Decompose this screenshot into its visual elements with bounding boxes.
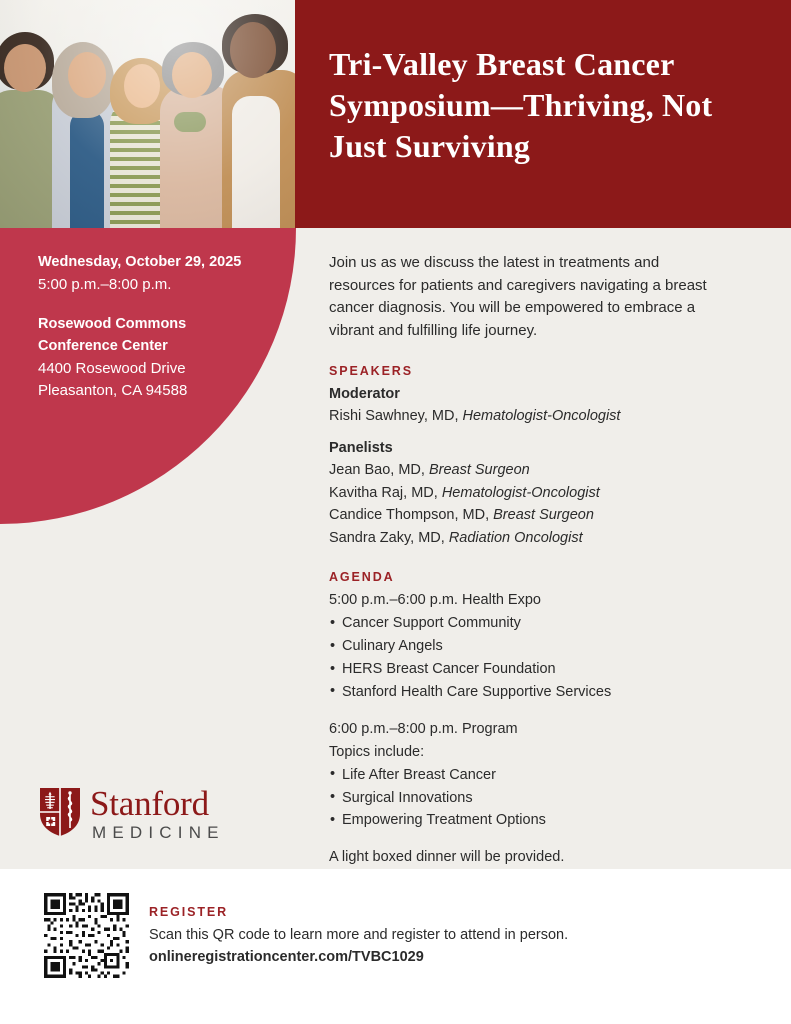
agenda-heading: AGENDA bbox=[329, 570, 721, 584]
panelist-entry: Kavitha Raj, MD, Hematologist-Oncologist bbox=[329, 482, 721, 504]
spacer bbox=[329, 549, 721, 570]
spacer bbox=[329, 704, 721, 718]
hero-photo bbox=[0, 0, 295, 228]
agenda-expo-list: Cancer Support Community Culinary Angels… bbox=[329, 612, 721, 704]
moderator-entry: Rishi Sawhney, MD, Hematologist-Oncologi… bbox=[329, 405, 721, 427]
panelist-entry: Candice Thompson, MD, Breast Surgeon bbox=[329, 504, 721, 526]
list-item: Empowering Treatment Options bbox=[329, 809, 721, 832]
panelist-name: Candice Thompson, MD, bbox=[329, 507, 489, 523]
list-item: Life After Breast Cancer bbox=[329, 764, 721, 787]
stanford-shield-icon bbox=[38, 786, 82, 843]
qr-code[interactable] bbox=[41, 890, 132, 981]
moderator-label: Moderator bbox=[329, 383, 721, 405]
spacer bbox=[38, 296, 278, 314]
moderator-name: Rishi Sawhney, MD, bbox=[329, 408, 458, 424]
list-item: Stanford Health Care Supportive Services bbox=[329, 681, 721, 704]
header-band: Tri-Valley Breast Cancer Symposium—Thriv… bbox=[295, 0, 791, 228]
stanford-wordmark: Stanford bbox=[90, 786, 209, 821]
main-content-column: Join us as we discuss the latest in trea… bbox=[329, 252, 721, 869]
list-item: Culinary Angels bbox=[329, 635, 721, 658]
panelist-title: Breast Surgeon bbox=[429, 462, 530, 478]
register-url[interactable]: onlineregistrationcenter.com/TVBC1029 bbox=[149, 947, 709, 969]
panelist-name: Sandra Zaky, MD, bbox=[329, 530, 445, 546]
intro-paragraph: Join us as we discuss the latest in trea… bbox=[329, 252, 721, 342]
event-details-text: Wednesday, October 29, 2025 5:00 p.m.–8:… bbox=[38, 252, 278, 403]
stanford-medicine-logo: Stanford MEDICINE bbox=[38, 786, 228, 842]
agenda-program-line: 6:00 p.m.–8:00 p.m. Program bbox=[329, 718, 721, 741]
panelist-entry: Jean Bao, MD, Breast Surgeon bbox=[329, 459, 721, 481]
list-item: Surgical Innovations bbox=[329, 787, 721, 810]
dinner-note: A light boxed dinner will be provided. bbox=[329, 846, 721, 869]
stanford-medicine-submark: MEDICINE bbox=[92, 823, 225, 843]
speakers-heading: SPEAKERS bbox=[329, 364, 721, 378]
panelist-name: Jean Bao, MD, bbox=[329, 462, 425, 478]
spacer bbox=[329, 832, 721, 846]
spacer bbox=[329, 428, 721, 437]
panelist-name: Kavitha Raj, MD, bbox=[329, 485, 438, 501]
event-address-line-2: Pleasanton, CA 94588 bbox=[38, 380, 278, 403]
photo-light-overlay bbox=[0, 0, 295, 228]
list-item: HERS Breast Cancer Foundation bbox=[329, 658, 721, 681]
panelist-title: Hematologist-Oncologist bbox=[442, 485, 600, 501]
register-block: REGISTER Scan this QR code to learn more… bbox=[149, 905, 709, 969]
footer-register-bar: REGISTER Scan this QR code to learn more… bbox=[0, 869, 791, 1024]
panelist-entry: Sandra Zaky, MD, Radiation Oncologist bbox=[329, 527, 721, 549]
panelist-title: Breast Surgeon bbox=[493, 507, 594, 523]
event-address-line-1: 4400 Rosewood Drive bbox=[38, 358, 278, 381]
panelist-title: Radiation Oncologist bbox=[449, 530, 583, 546]
list-item: Cancer Support Community bbox=[329, 612, 721, 635]
event-time: 5:00 p.m.–8:00 p.m. bbox=[38, 274, 278, 297]
agenda-topics-label: Topics include: bbox=[329, 741, 721, 764]
event-venue-line-1: Rosewood Commons bbox=[38, 314, 278, 336]
event-venue-line-2: Conference Center bbox=[38, 336, 278, 358]
panelists-label: Panelists bbox=[329, 437, 721, 459]
agenda-topics-list: Life After Breast Cancer Surgical Innova… bbox=[329, 764, 721, 833]
event-date: Wednesday, October 29, 2025 bbox=[38, 252, 278, 274]
moderator-title: Hematologist-Oncologist bbox=[463, 408, 621, 424]
page-title: Tri-Valley Breast Cancer Symposium—Thriv… bbox=[329, 44, 749, 167]
flyer-page: Tri-Valley Breast Cancer Symposium—Thriv… bbox=[0, 0, 791, 1024]
register-instruction: Scan this QR code to learn more and regi… bbox=[149, 925, 709, 947]
register-heading: REGISTER bbox=[149, 905, 709, 919]
agenda-expo-line: 5:00 p.m.–6:00 p.m. Health Expo bbox=[329, 589, 721, 612]
